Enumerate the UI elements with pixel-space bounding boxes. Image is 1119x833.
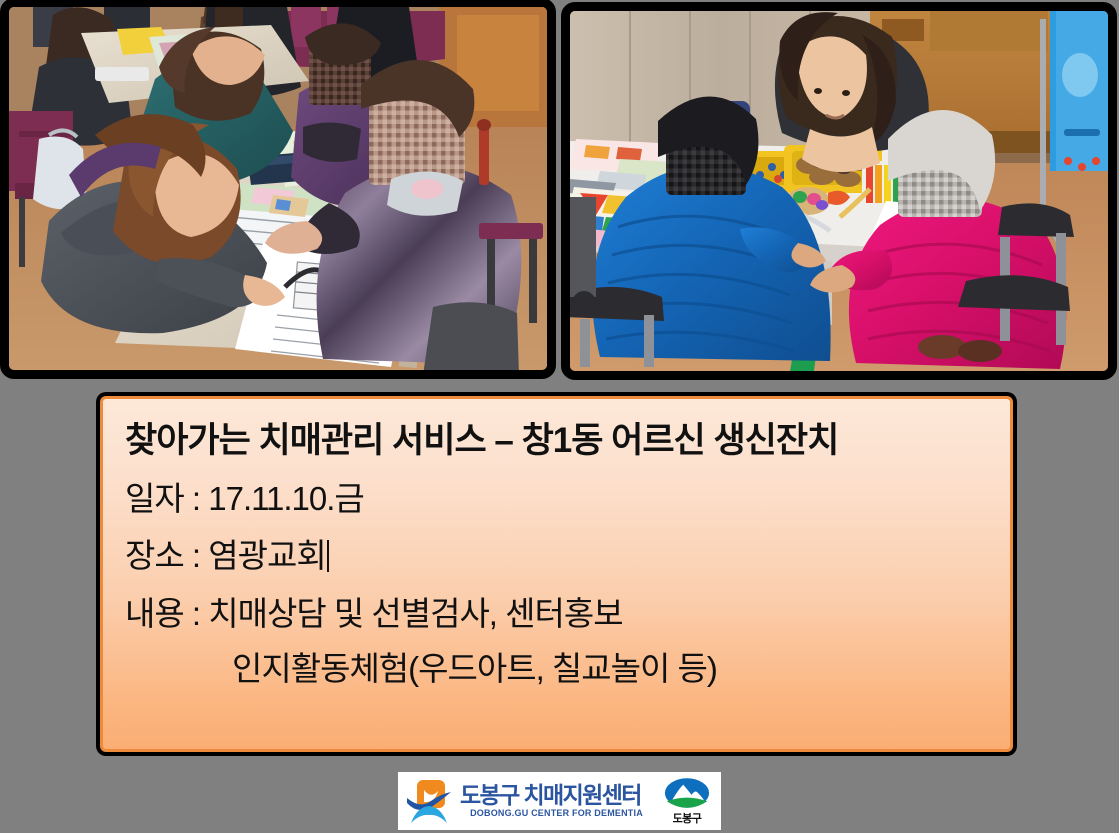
logo-bar: 도봉구 치매지원센터 DOBONG.GU CENTER FOR DEMENTIA…: [398, 772, 721, 830]
photo-right: [561, 2, 1117, 380]
logo-english-name: DOBONG.GU CENTER FOR DEMENTIA: [460, 809, 653, 819]
card-line-place-value: 염광교회: [208, 537, 325, 574]
card-line-date-label: 일자 :: [125, 480, 200, 517]
card-line-place-label: 장소 :: [125, 537, 200, 574]
photo-row: [0, 0, 1119, 385]
dobong-gu-label: 도봉구: [673, 810, 702, 826]
card-title: 찾아가는 치매관리 서비스 – 창1동 어르신 생신잔치: [125, 419, 988, 463]
poster-page: 찾아가는 치매관리 서비스 – 창1동 어르신 생신잔치 일자 : 17.11.…: [0, 0, 1119, 833]
card-line-date-value: 17.11.10.금: [208, 480, 364, 517]
info-card-inner: 찾아가는 치매관리 서비스 – 창1동 어르신 생신잔치 일자 : 17.11.…: [100, 396, 1013, 752]
card-line-date: 일자 : 17.11.10.금: [125, 477, 988, 521]
logo-korean-name: 도봉구 치매지원센터: [460, 783, 653, 807]
photo-right-image: [570, 11, 1108, 371]
text-caret: [327, 540, 329, 572]
dobong-dementia-center-logo-icon: [406, 778, 452, 824]
logo-wordmark: 도봉구 치매지원센터 DOBONG.GU CENTER FOR DEMENTIA: [458, 783, 653, 819]
info-card: 찾아가는 치매관리 서비스 – 창1동 어르신 생신잔치 일자 : 17.11.…: [96, 392, 1017, 756]
mountain-icon: [664, 777, 710, 809]
card-line-content: 내용 : 치매상담 및 선별검사, 센터홍보: [125, 592, 988, 636]
card-line-place: 장소 : 염광교회: [125, 534, 988, 578]
card-line-content-label: 내용 :: [125, 595, 200, 632]
card-line-content-extra: 인지활동체험(우드아트, 칠교놀이 등): [125, 647, 988, 691]
card-line-content-extra-value: 인지활동체험(우드아트, 칠교놀이 등): [232, 650, 717, 687]
photo-left-image: [9, 7, 547, 370]
photo-left: [0, 0, 556, 379]
card-line-content-value: 치매상담 및 선별검사, 센터홍보: [208, 595, 622, 632]
dobong-gu-emblem: 도봉구: [659, 777, 715, 826]
